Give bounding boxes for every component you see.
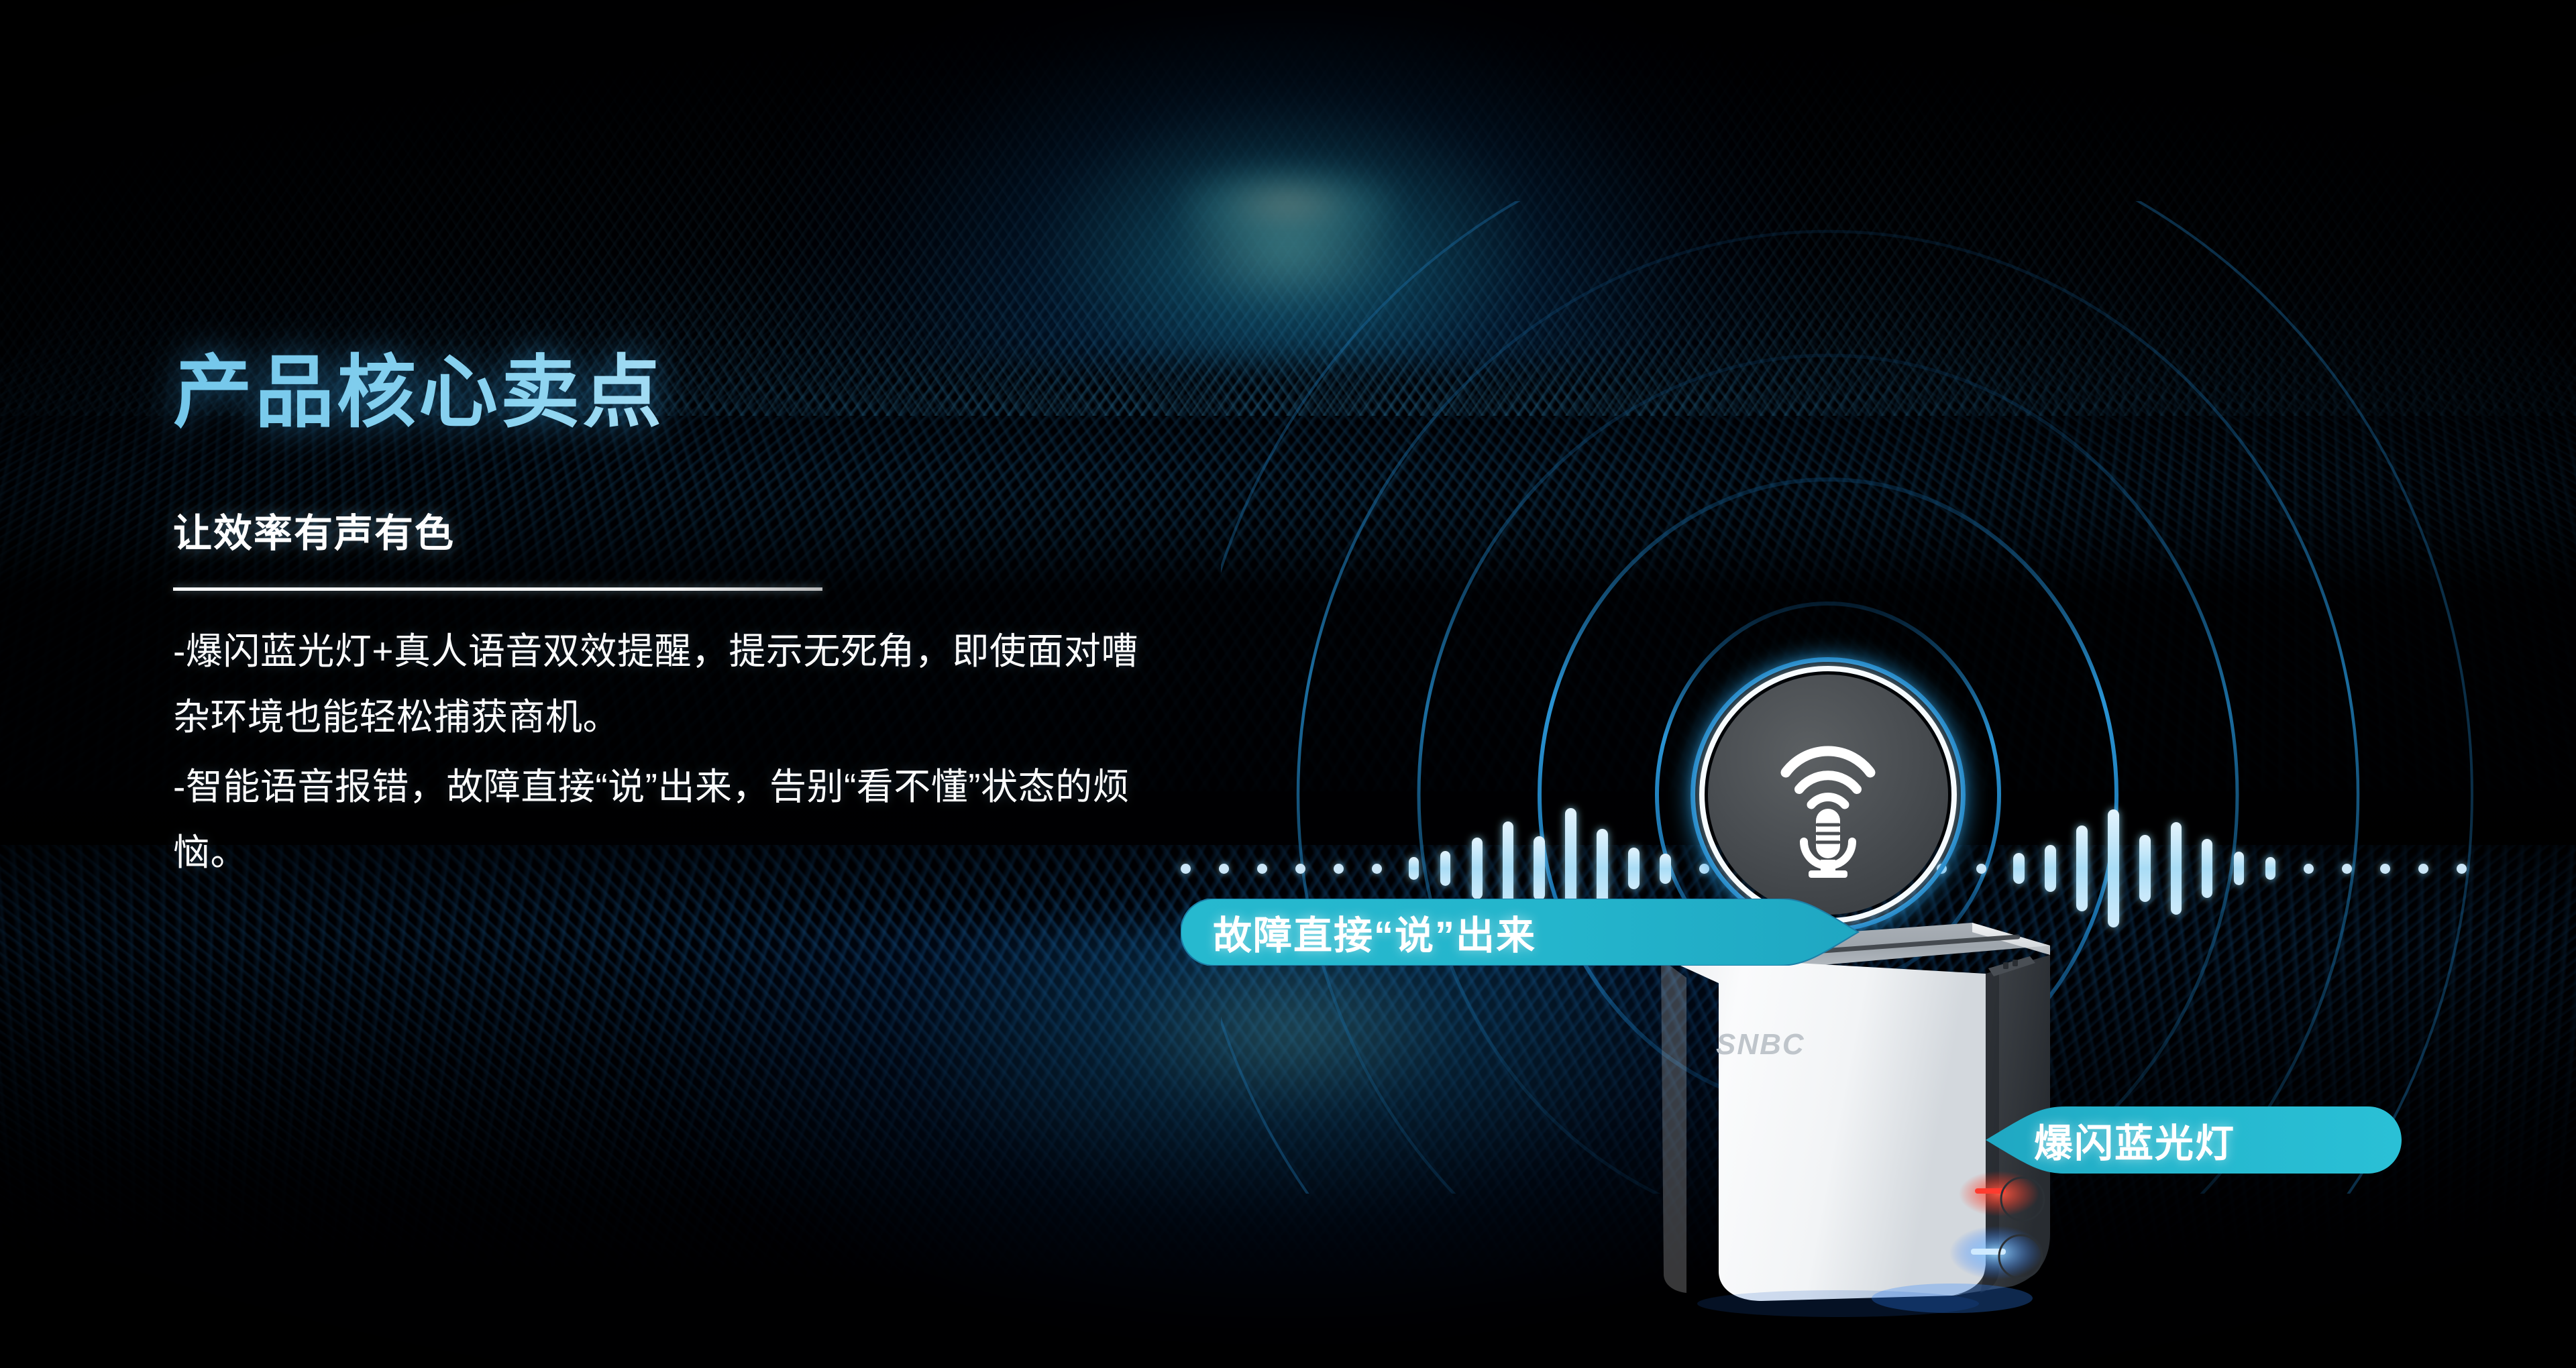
waveform-bar: [2265, 857, 2275, 880]
waveform-dot: [2380, 864, 2390, 874]
callout-voice-error[interactable]: 故障直接“说”出来: [1181, 899, 1536, 966]
waveform-bar: [1660, 854, 1671, 884]
waveform-dot: [2418, 864, 2428, 874]
section-subheading: 让效率有声有色: [173, 502, 1220, 558]
waveform-bar: [1628, 848, 1640, 889]
feature-bullet-list: -爆闪蓝光灯+真人语音双效提醒，提示无死角，即使面对嘈杂环境也能轻松捕获商机。 …: [173, 619, 1152, 886]
waveform-dot: [1219, 864, 1229, 874]
callout-label: 故障直接“说”出来: [1181, 904, 1536, 960]
waveform-dot: [1976, 864, 1986, 874]
waveform-bar: [2108, 809, 2119, 927]
waveform-bar: [2013, 853, 2025, 884]
waveform-bar: [1472, 838, 1483, 899]
waveform-bar: [2202, 839, 2212, 898]
feature-bullet: -智能语音报错，故障直接“说”出来，告别“看不懂”状态的烦恼。: [173, 754, 1152, 886]
waveform-dot: [2304, 864, 2314, 874]
waveform-dot: [2342, 864, 2352, 874]
waveform-bar: [1534, 836, 1545, 901]
waveform-bar: [2171, 822, 2182, 915]
waveform-dot: [1372, 864, 1382, 874]
waveform-bar: [2234, 852, 2244, 885]
waveform-dot: [1295, 864, 1305, 874]
waveform-bar: [2139, 835, 2151, 902]
waveform-dot: [2457, 864, 2467, 874]
microphone-with-sound-waves-icon: [1751, 711, 1905, 878]
slide-canvas: 产品核心卖点 让效率有声有色 -爆闪蓝光灯+真人语音双效提醒，提示无死角，即使面…: [0, 0, 2576, 1368]
voice-assistant-badge: [1690, 657, 1966, 932]
waveform-dot: [1181, 864, 1191, 874]
waveform-dot: [1334, 864, 1344, 874]
callout-blue-flash-light[interactable]: 爆闪蓝光灯: [1986, 1106, 2235, 1174]
heading-divider: [173, 587, 822, 591]
text-column: 产品核心卖点 让效率有声有色 -爆闪蓝光灯+真人语音双效提醒，提示无死角，即使面…: [173, 349, 1220, 886]
page-title: 产品核心卖点: [173, 349, 1220, 437]
feature-bullet: -爆闪蓝光灯+真人语音双效提醒，提示无死角，即使面对嘈杂环境也能轻松捕获商机。: [173, 619, 1152, 750]
waveform-bar: [2045, 845, 2056, 892]
waveform-dot: [1257, 864, 1267, 874]
waveform-bar: [1597, 829, 1608, 908]
brand-logo-text: SNBC: [1716, 1028, 1805, 1061]
badge-disc: [1708, 675, 1948, 915]
waveform-bar: [1409, 857, 1419, 880]
callout-label: 爆闪蓝光灯: [1986, 1112, 2235, 1168]
product-visual: SNBC: [1221, 201, 2549, 1341]
waveform-bar: [1440, 851, 1450, 886]
